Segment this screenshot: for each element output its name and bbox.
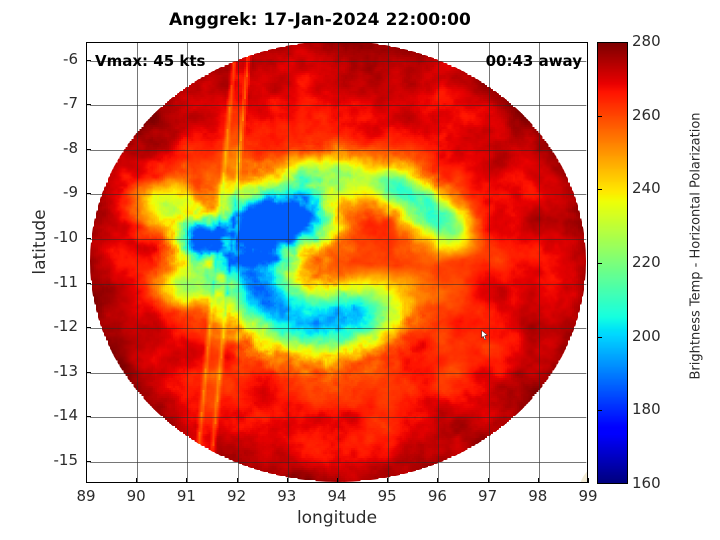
y-tick-mark	[86, 60, 91, 61]
cimss-logo: CIMSS	[561, 456, 588, 483]
y-tick-mark	[86, 104, 91, 105]
x-tick-label-93: 93	[267, 487, 307, 505]
grid-line-vertical-overlay	[438, 42, 439, 482]
colorbar-tick-mark	[597, 337, 602, 338]
grid-line-vertical-overlay	[338, 42, 339, 482]
colorbar-tick-mark	[597, 116, 602, 117]
cursor-marker-icon	[481, 330, 488, 340]
y-tick-label--8: -8	[34, 139, 78, 157]
y-tick-label--7: -7	[34, 94, 78, 112]
x-tick-mark	[337, 478, 338, 483]
colorbar-tick-label-180: 180	[632, 400, 661, 418]
x-tick-label-90: 90	[116, 487, 156, 505]
x-tick-mark	[237, 478, 238, 483]
x-tick-mark	[287, 478, 288, 483]
y-tick-label--12: -12	[34, 317, 78, 335]
y-tick-mark	[86, 149, 91, 150]
x-tick-label-99: 99	[568, 487, 608, 505]
colorbar-tick-label-280: 280	[632, 32, 661, 50]
grid-line-horizontal-overlay	[90, 105, 587, 106]
colorbar-tick-label-220: 220	[632, 253, 661, 271]
colorbar-tick-label-240: 240	[632, 179, 661, 197]
plot-area[interactable]: CIMSS	[86, 42, 588, 483]
x-tick-label-92: 92	[217, 487, 257, 505]
grid-line-horizontal-overlay	[90, 417, 587, 418]
microwave-satellite-plot: Anggrek: 17-Jan-2024 22:00:00	[0, 0, 720, 540]
x-tick-mark	[86, 478, 87, 483]
y-tick-label--15: -15	[34, 451, 78, 469]
y-tick-mark	[86, 461, 91, 462]
grid-line-horizontal-overlay	[90, 373, 587, 374]
x-tick-mark	[186, 478, 187, 483]
grid-line-vertical-overlay	[388, 42, 389, 482]
vmax-annotation: Vmax: 45 kts	[95, 52, 205, 70]
time-away-annotation: 00:43 away	[486, 52, 582, 70]
x-tick-mark	[588, 478, 589, 483]
y-tick-label--6: -6	[34, 50, 78, 68]
colorbar-tick-mark	[597, 189, 602, 190]
colorbar-tick-label-200: 200	[632, 327, 661, 345]
x-tick-label-94: 94	[317, 487, 357, 505]
y-tick-mark	[86, 372, 91, 373]
grid-line-horizontal-overlay	[90, 194, 587, 195]
grid-line-horizontal-overlay	[90, 328, 587, 329]
y-tick-mark	[86, 193, 91, 194]
grid-line-vertical-overlay	[489, 42, 490, 482]
y-tick-label--13: -13	[34, 362, 78, 380]
grid-line-vertical-overlay	[288, 42, 289, 482]
grid-line-vertical-overlay	[137, 42, 138, 482]
x-tick-mark	[437, 478, 438, 483]
y-tick-mark	[86, 283, 91, 284]
colorbar-tick-label-160: 160	[632, 474, 661, 492]
x-tick-mark	[538, 478, 539, 483]
colorbar-tick-label-260: 260	[632, 106, 661, 124]
x-tick-label-91: 91	[166, 487, 206, 505]
x-tick-mark	[136, 478, 137, 483]
grid-line-horizontal-overlay	[90, 239, 587, 240]
grid-line-vertical-overlay	[539, 42, 540, 482]
x-tick-label-97: 97	[468, 487, 508, 505]
y-axis-label: latitude	[30, 182, 50, 302]
colorbar-tick-mark	[597, 263, 602, 264]
colorbar-tick-mark	[597, 410, 602, 411]
grid-line-horizontal-overlay	[90, 284, 587, 285]
x-tick-label-98: 98	[518, 487, 558, 505]
x-tick-label-89: 89	[66, 487, 106, 505]
x-tick-mark	[488, 478, 489, 483]
x-tick-mark	[387, 478, 388, 483]
y-tick-mark	[86, 238, 91, 239]
y-tick-label--14: -14	[34, 406, 78, 424]
x-axis-label: longitude	[86, 508, 588, 528]
x-tick-label-96: 96	[417, 487, 457, 505]
colorbar-label: Brightness Temp - Horizontal Polarizatio…	[689, 160, 704, 380]
grid-line-vertical-overlay	[187, 42, 188, 482]
grid-line-horizontal-overlay	[90, 150, 587, 151]
x-tick-label-95: 95	[367, 487, 407, 505]
page-title: Anggrek: 17-Jan-2024 22:00:00	[0, 10, 640, 30]
grid-line-horizontal-overlay	[90, 462, 587, 463]
y-tick-mark	[86, 416, 91, 417]
y-tick-mark	[86, 327, 91, 328]
grid-line-vertical-overlay	[238, 42, 239, 482]
